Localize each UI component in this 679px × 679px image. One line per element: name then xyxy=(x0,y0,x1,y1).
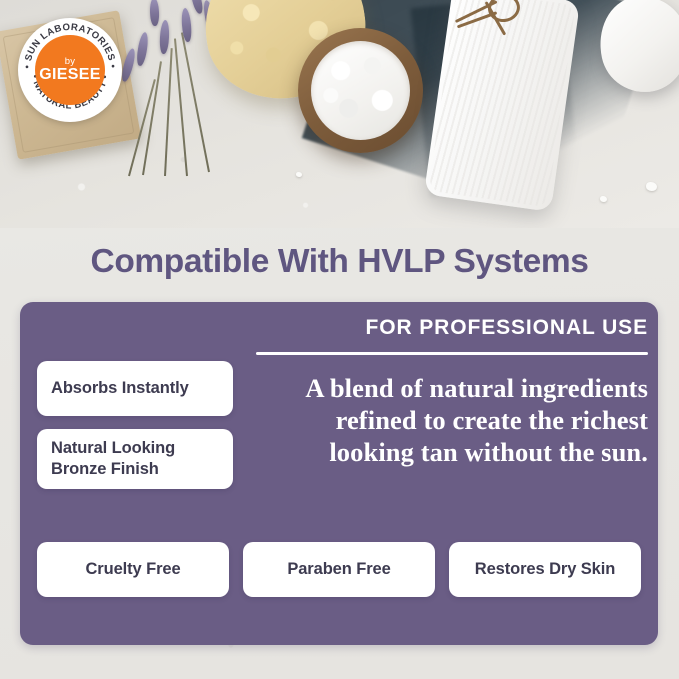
brand-badge: • SUN LABORATORIES • • NATURAL BEAUTY • … xyxy=(18,18,122,122)
feature-card-natural-looking-bronze-finish[interactable]: Natural Looking Bronze Finish xyxy=(37,429,233,489)
feature-card-label: Paraben Free xyxy=(287,559,390,580)
page-title: Compatible With HVLP Systems xyxy=(0,243,679,281)
left-feature-card-list: Absorbs Instantly Natural Looking Bronze… xyxy=(37,361,233,489)
panel-description: A blend of natural ingredients refined t… xyxy=(256,373,648,468)
feature-card-absorbs-instantly[interactable]: Absorbs Instantly xyxy=(37,361,233,416)
badge-inner-disc: by GIESEE™ xyxy=(35,35,105,105)
salt-crystal xyxy=(600,196,607,202)
salt-crystal xyxy=(646,182,657,191)
feature-card-label: Cruelty Free xyxy=(85,559,180,580)
divider xyxy=(256,352,648,355)
feature-card-label: Absorbs Instantly xyxy=(51,378,189,399)
salt-crystal xyxy=(296,172,302,177)
bath-salt-bowl-image xyxy=(298,28,423,153)
feature-card-label: Restores Dry Skin xyxy=(475,559,615,580)
badge-by-label: by xyxy=(65,57,75,67)
feature-card-label: Natural Looking Bronze Finish xyxy=(51,438,219,480)
bath-salt-image xyxy=(311,41,410,140)
badge-brand-name: GIESEE™ xyxy=(39,67,100,83)
bottom-feature-card-list: Cruelty Free Paraben Free Restores Dry S… xyxy=(37,542,641,597)
panel-right-column: FOR PROFESSIONAL USE A blend of natural … xyxy=(256,316,648,468)
product-infographic: • SUN LABORATORIES • • NATURAL BEAUTY • … xyxy=(0,0,679,679)
twine-bow-image xyxy=(447,0,530,61)
panel-top-section: Absorbs Instantly Natural Looking Bronze… xyxy=(20,302,658,534)
features-panel: Absorbs Instantly Natural Looking Bronze… xyxy=(20,302,658,645)
badge-brand-text: GIESEE xyxy=(39,66,100,83)
feature-card-paraben-free[interactable]: Paraben Free xyxy=(243,542,435,597)
panel-title: FOR PROFESSIONAL USE xyxy=(256,316,648,339)
feature-card-restores-dry-skin[interactable]: Restores Dry Skin xyxy=(449,542,641,597)
trademark-icon: ™ xyxy=(104,64,110,70)
feature-card-cruelty-free[interactable]: Cruelty Free xyxy=(37,542,229,597)
